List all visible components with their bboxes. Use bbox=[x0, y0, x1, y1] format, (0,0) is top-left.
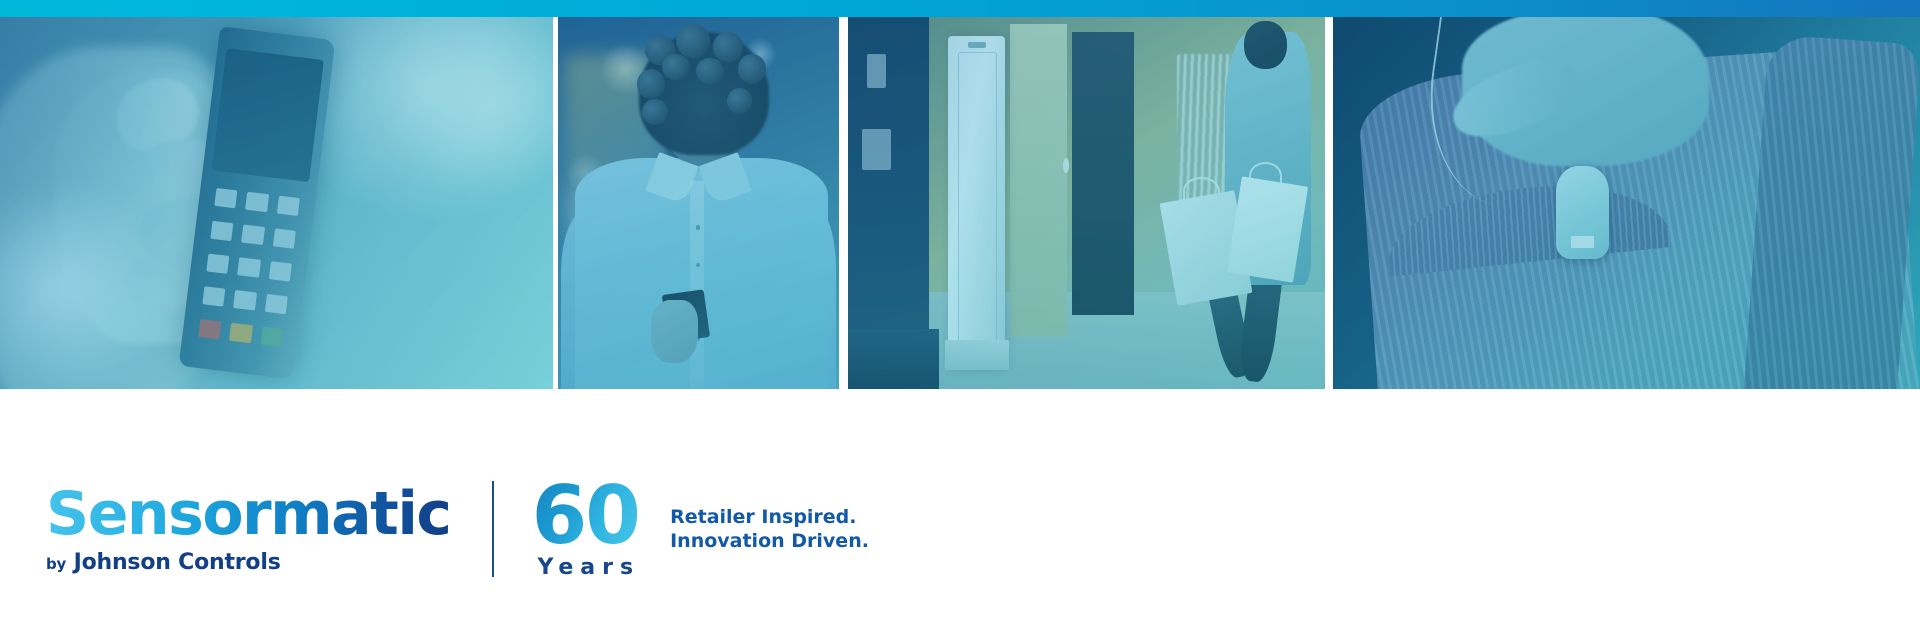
by-prefix: by bbox=[46, 555, 66, 573]
photo-store-exit-pedestal bbox=[848, 17, 1325, 389]
top-accent-strip bbox=[0, 0, 1920, 17]
duotone-wash-multiply bbox=[848, 17, 1325, 389]
sensormatic-wordmark: Sensormatic bbox=[46, 484, 450, 544]
by-johnson-controls: by Johnson Controls bbox=[46, 550, 450, 575]
parent-company-name: Johnson Controls bbox=[74, 550, 281, 575]
photo-shopper-with-phone bbox=[558, 17, 839, 389]
marketing-banner: Sensormatic by Johnson Controls 60 Years… bbox=[0, 0, 1920, 640]
duotone-wash-multiply bbox=[558, 17, 839, 389]
vertical-divider bbox=[492, 481, 494, 577]
tagline-line-1: Retailer Inspired. bbox=[670, 505, 869, 529]
photo-security-tag-on-garment bbox=[1333, 17, 1920, 389]
anniversary-number: 60 bbox=[530, 479, 640, 553]
photo-payment-terminal bbox=[0, 17, 553, 389]
duotone-wash-multiply bbox=[0, 17, 553, 389]
tagline-line-2: Innovation Driven. bbox=[670, 529, 869, 553]
anniversary-years-label: Years bbox=[530, 555, 640, 580]
sensormatic-logo: Sensormatic by Johnson Controls bbox=[46, 484, 450, 575]
brand-lockup: Sensormatic by Johnson Controls 60 Years… bbox=[46, 479, 869, 580]
photo-strip bbox=[0, 17, 1920, 389]
brand-tagline: Retailer Inspired. Innovation Driven. bbox=[670, 505, 869, 554]
bottom-band: Sensormatic by Johnson Controls 60 Years… bbox=[0, 389, 1920, 640]
anniversary-badge: 60 Years Retailer Inspired. Innovation D… bbox=[530, 479, 868, 580]
duotone-wash-multiply bbox=[1333, 17, 1920, 389]
